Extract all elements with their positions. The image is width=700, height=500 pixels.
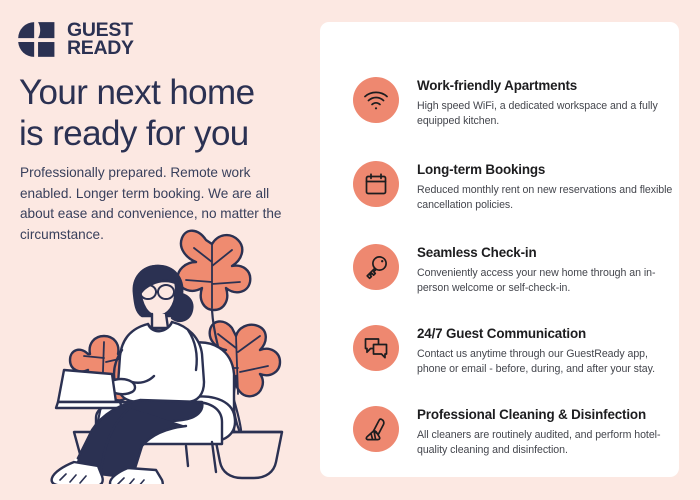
feature-title: 24/7 Guest Communication bbox=[417, 326, 673, 343]
feature-text: 24/7 Guest Communication Contact us anyt… bbox=[399, 325, 673, 377]
list-item: Work-friendly Apartments High speed WiFi… bbox=[353, 77, 673, 129]
broom-icon bbox=[353, 406, 399, 452]
promo-page: GUEST READY Your next home is ready for … bbox=[0, 0, 700, 500]
feature-description: Contact us anytime through our GuestRead… bbox=[417, 347, 673, 377]
feature-title: Professional Cleaning & Disinfection bbox=[417, 407, 673, 424]
list-item: Long-term Bookings Reduced monthly rent … bbox=[353, 161, 673, 213]
features-card: Work-friendly Apartments High speed WiFi… bbox=[320, 22, 679, 477]
chat-bubbles-icon bbox=[353, 325, 399, 371]
brand-wordmark: GUEST READY bbox=[67, 22, 134, 58]
feature-description: High speed WiFi, a dedicated workspace a… bbox=[417, 99, 673, 129]
list-item: Professional Cleaning & Disinfection All… bbox=[353, 406, 673, 458]
feature-description: Reduced monthly rent on new reservations… bbox=[417, 183, 673, 213]
feature-title: Work-friendly Apartments bbox=[417, 78, 673, 95]
headline-line-2: is ready for you bbox=[19, 113, 309, 154]
feature-text: Work-friendly Apartments High speed WiFi… bbox=[399, 77, 673, 129]
brand-logo: GUEST READY bbox=[17, 21, 134, 58]
feature-title: Seamless Check-in bbox=[417, 245, 673, 262]
brand-name-line2: READY bbox=[67, 40, 134, 58]
person bbox=[52, 266, 204, 484]
guestready-square-mark-icon bbox=[17, 21, 56, 58]
woman-with-laptop-in-armchair-with-plants-illustration bbox=[36, 222, 304, 484]
list-item: 24/7 Guest Communication Contact us anyt… bbox=[353, 325, 673, 377]
feature-text: Seamless Check-in Conveniently access yo… bbox=[399, 244, 673, 296]
feature-text: Professional Cleaning & Disinfection All… bbox=[399, 406, 673, 458]
calendar-icon bbox=[353, 161, 399, 207]
feature-text: Long-term Bookings Reduced monthly rent … bbox=[399, 161, 673, 213]
feature-description: All cleaners are routinely audited, and … bbox=[417, 428, 673, 458]
feature-title: Long-term Bookings bbox=[417, 162, 673, 179]
left-column: GUEST READY Your next home is ready for … bbox=[0, 0, 310, 500]
wifi-icon bbox=[353, 77, 399, 123]
list-item: Seamless Check-in Conveniently access yo… bbox=[353, 244, 673, 296]
headline-line-1: Your next home bbox=[19, 73, 254, 112]
feature-description: Conveniently access your new home throug… bbox=[417, 266, 673, 296]
key-icon bbox=[353, 244, 399, 290]
page-title: Your next home is ready for you bbox=[19, 72, 309, 155]
